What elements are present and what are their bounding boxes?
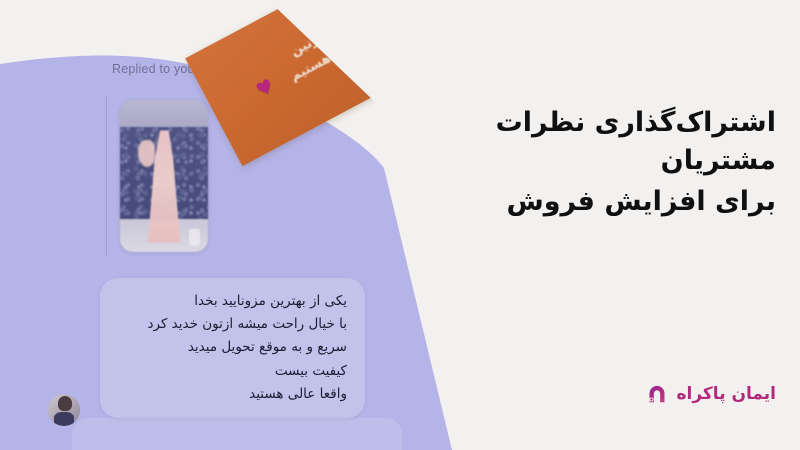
customer-message-bubble: یکی از بهترین مزونایید بخدا با خیال راحت… bbox=[100, 278, 365, 418]
headline-prefix: اشتراک‌گذاری bbox=[585, 107, 776, 138]
chat-input-panel bbox=[72, 418, 402, 450]
message-line: یکی از بهترین مزونایید بخدا bbox=[114, 290, 347, 313]
avatar-hair bbox=[58, 396, 73, 411]
pink-dress-sleeve bbox=[138, 140, 156, 167]
media-ceiling bbox=[120, 100, 208, 129]
avatar-body bbox=[54, 412, 74, 426]
cover-canvas: Replied to your story نازنین هستیم ♥ یکی… bbox=[0, 0, 800, 450]
brand-logo-text: ایمان پاکراه bbox=[676, 384, 776, 404]
brand-logo[interactable]: ایمان پاکراه bbox=[645, 382, 776, 406]
thread-connector-line bbox=[106, 96, 107, 256]
message-line: واقعا عالی هستید bbox=[114, 383, 347, 406]
message-line: با خیال راحت میشه ازتون خدید کرد bbox=[114, 313, 347, 336]
media-vase bbox=[189, 229, 200, 246]
story-media-thumbnail[interactable] bbox=[120, 100, 208, 252]
headline-line-2: برای افزایش فروش bbox=[376, 183, 776, 221]
brand-arch-icon bbox=[645, 382, 669, 406]
message-line: کیفیت بیست bbox=[114, 360, 347, 383]
page-title: اشتراک‌گذاری نظرات مشتریان برای افزایش ف… bbox=[376, 104, 776, 221]
chat-screenshot: Replied to your story نازنین هستیم ♥ یکی… bbox=[0, 0, 460, 450]
headline-line-1: اشتراک‌گذاری نظرات مشتریان bbox=[376, 104, 776, 181]
heart-icon: ♥ bbox=[252, 76, 277, 101]
avatar[interactable] bbox=[48, 394, 80, 426]
message-line: سریع و به موقع تحویل میدید bbox=[114, 336, 347, 359]
